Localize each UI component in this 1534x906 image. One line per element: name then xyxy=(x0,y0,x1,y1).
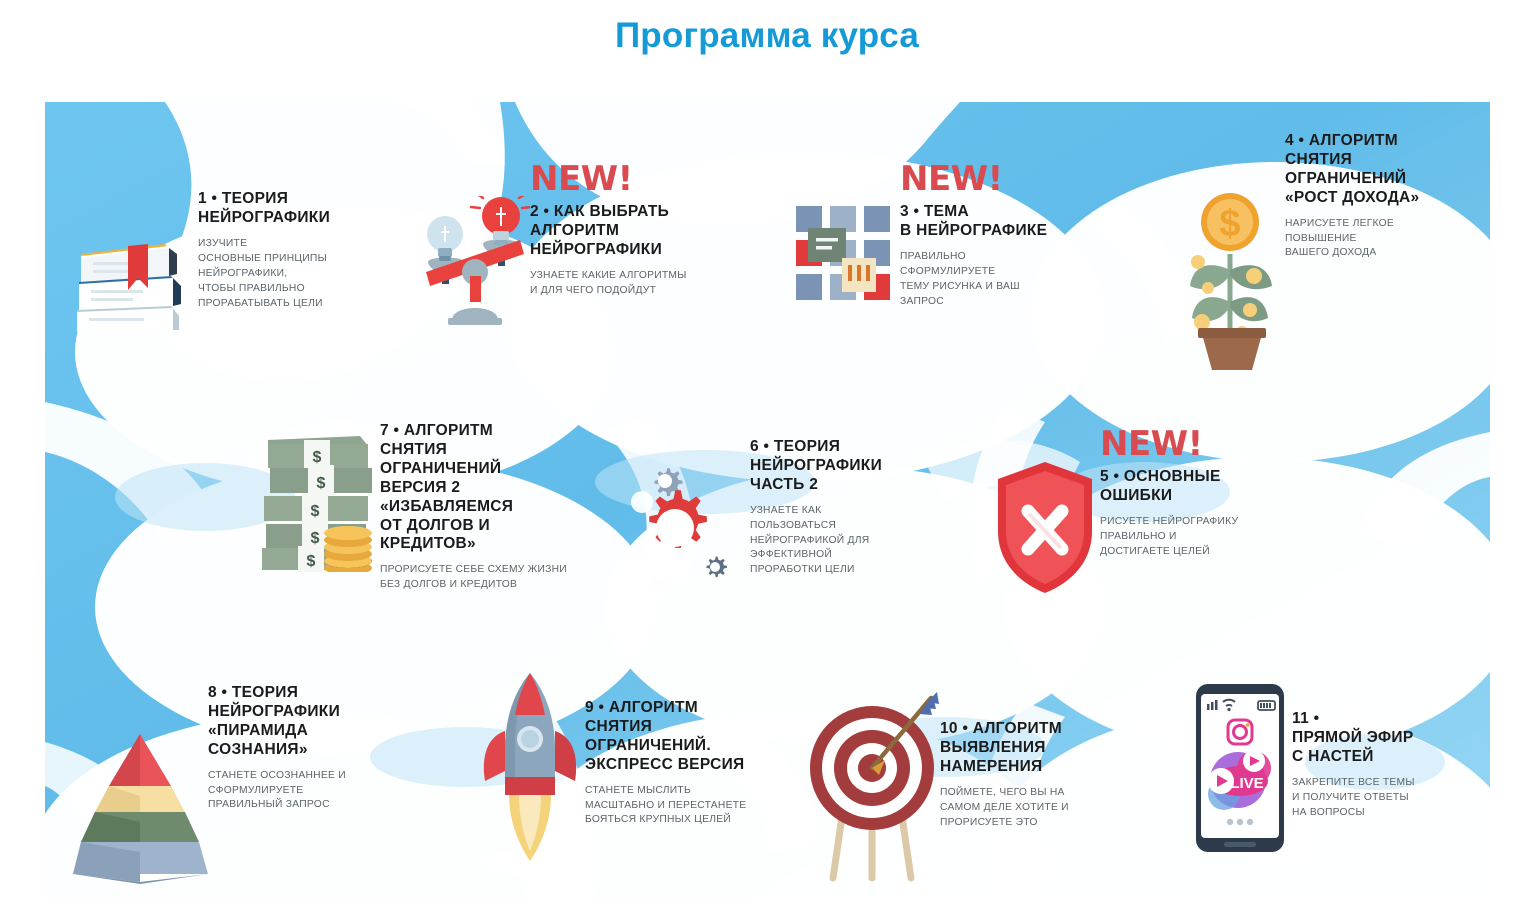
course-item-8[interactable]: 8 • ТЕОРИЯ НЕЙРОГРАФИКИ «ПИРАМИДА СОЗНАН… xyxy=(73,684,393,889)
course-item-desc: ПРОРИСУЕТЕ СЕБЕ СХЕМУ ЖИЗНИ БЕЗ ДОЛГОВ И… xyxy=(380,563,567,593)
pyramid-icon xyxy=(73,724,208,889)
course-item-desc: ПРАВИЛЬНО СФОРМУЛИРУЕТЕ ТЕМУ РИСУНКА И В… xyxy=(900,250,1047,310)
course-item-10[interactable]: 10 • АЛГОРИТМ ВЫЯВЛЕНИЯ НАМЕРЕНИЯ ПОЙМЕТ… xyxy=(805,682,1105,887)
course-item-desc: ЗАКРЕПИТЕ ВСЕ ТЕМЫ И ПОЛУЧИТЕ ОТВЕТЫ НА … xyxy=(1292,776,1415,821)
course-item-title: 9 • АЛГОРИТМ СНЯТИЯ ОГРАНИЧЕНИЙ. ЭКСПРЕС… xyxy=(585,699,746,775)
svg-text:$: $ xyxy=(1219,203,1240,245)
course-program-board: 1 • ТЕОРИЯ НЕЙРОГРАФИКИ ИЗУЧИТЕ ОСНОВНЫЕ… xyxy=(45,102,1490,900)
course-item-title: 1 • ТЕОРИЯ НЕЙРОГРАФИКИ xyxy=(198,190,330,228)
course-item-title: 8 • ТЕОРИЯ НЕЙРОГРАФИКИ «ПИРАМИДА СОЗНАН… xyxy=(208,684,346,760)
course-item-title: 5 • ОСНОВНЫЕ ОШИБКИ xyxy=(1100,468,1238,506)
course-item-desc: УЗНАЕТЕ КАКИЕ АЛГОРИТМЫ И ДЛЯ ЧЕГО ПОДОЙ… xyxy=(530,269,687,299)
money-stacks-icon: $ $ $ $ xyxy=(260,432,380,577)
gears-icon xyxy=(630,446,750,611)
course-item-desc: СТАНЕТЕ ОСОЗНАННЕЕ И СФОРМУЛИРУЕТЕ ПРАВИ… xyxy=(208,769,346,814)
course-item-2[interactable]: NEW! 2 • КАК ВЫБРАТЬ АЛГОРИТМ НЕЙРОГРАФИ… xyxy=(420,162,740,331)
course-item-6[interactable]: 6 • ТЕОРИЯ НЕЙРОГРАФИКИ ЧАСТЬ 2 УЗНАЕТЕ … xyxy=(630,432,930,611)
course-item-7-text: 7 • АЛГОРИТМ СНЯТИЯ ОГРАНИЧЕНИЙ ВЕРСИЯ 2… xyxy=(380,422,567,593)
money-plant-icon: $ xyxy=(1180,192,1285,377)
course-item-2-text: NEW! 2 • КАК ВЫБРАТЬ АЛГОРИТМ НЕЙРОГРАФИ… xyxy=(530,162,687,299)
course-item-desc: ПОЙМЕТЕ, ЧЕГО ВЫ НА САМОМ ДЕЛЕ ХОТИТЕ И … xyxy=(940,786,1069,831)
new-badge: NEW! xyxy=(530,162,687,196)
course-item-10-text: 10 • АЛГОРИТМ ВЫЯВЛЕНИЯ НАМЕРЕНИЯ ПОЙМЕТ… xyxy=(940,720,1069,830)
squares-grid-icon xyxy=(790,200,900,310)
course-item-5[interactable]: NEW! 5 • ОСНОВНЫЕ ОШИБКИ РИСУЕТЕ НЕЙРОГР… xyxy=(990,427,1290,604)
course-item-title: 6 • ТЕОРИЯ НЕЙРОГРАФИКИ ЧАСТЬ 2 xyxy=(750,438,882,495)
course-item-desc: НАРИСУЕТЕ ЛЕГКОЕ ПОВЫШЕНИЕ ВАШЕГО ДОХОДА xyxy=(1285,217,1419,262)
course-item-desc: УЗНАЕТЕ КАК ПОЛЬЗОВАТЬСЯ НЕЙРОГРАФИКОЙ Д… xyxy=(750,504,882,579)
course-item-desc: СТАНЕТЕ МЫСЛИТЬ МАСШТАБНО И ПЕРЕСТАНЕТЕ … xyxy=(585,784,746,829)
new-badge: NEW! xyxy=(900,162,1047,196)
course-item-9[interactable]: 9 • АЛГОРИТМ СНЯТИЯ ОГРАНИЧЕНИЙ. ЭКСПРЕС… xyxy=(475,647,775,880)
rocket-icon xyxy=(475,665,585,880)
svg-text:LIVE: LIVE xyxy=(1230,775,1263,792)
svg-text:$: $ xyxy=(317,475,326,492)
shield-cross-icon xyxy=(990,459,1100,604)
svg-text:$: $ xyxy=(311,530,320,547)
new-badge: NEW! xyxy=(1100,427,1238,461)
svg-text:$: $ xyxy=(307,553,316,570)
course-item-desc: ИЗУЧИТЕ ОСНОВНЫЕ ПРИНЦИПЫ НЕЙРОГРАФИКИ, … xyxy=(198,237,330,312)
page-title: Программа курса xyxy=(0,16,1534,56)
smartphone-live-icon: LIVE xyxy=(1190,682,1292,862)
course-item-title: 11 • ПРЯМОЙ ЭФИР С НАСТЕЙ xyxy=(1292,710,1415,767)
course-item-8-text: 8 • ТЕОРИЯ НЕЙРОГРАФИКИ «ПИРАМИДА СОЗНАН… xyxy=(208,684,346,813)
course-item-6-text: 6 • ТЕОРИЯ НЕЙРОГРАФИКИ ЧАСТЬ 2 УЗНАЕТЕ … xyxy=(750,438,882,578)
course-item-title: 7 • АЛГОРИТМ СНЯТИЯ ОГРАНИЧЕНИЙ ВЕРСИЯ 2… xyxy=(380,422,567,554)
course-item-11-text: 11 • ПРЯМОЙ ЭФИР С НАСТЕЙ ЗАКРЕПИТЕ ВСЕ … xyxy=(1292,710,1415,820)
course-item-3[interactable]: NEW! 3 • ТЕМА В НЕЙРОГРАФИКЕ ПРАВИЛЬНО С… xyxy=(790,162,1110,310)
course-item-title: 4 • АЛГОРИТМ СНЯТИЯ ОГРАНИЧЕНИЙ «РОСТ ДО… xyxy=(1285,132,1419,208)
course-item-1-text: 1 • ТЕОРИЯ НЕЙРОГРАФИКИ ИЗУЧИТЕ ОСНОВНЫЕ… xyxy=(198,190,330,311)
course-item-4-text: 4 • АЛГОРИТМ СНЯТИЯ ОГРАНИЧЕНИЙ «РОСТ ДО… xyxy=(1285,132,1419,261)
course-item-7[interactable]: $ $ $ $ xyxy=(260,422,590,593)
course-item-1[interactable]: 1 • ТЕОРИЯ НЕЙРОГРАФИКИ ИЗУЧИТЕ ОСНОВНЫЕ… xyxy=(73,190,403,337)
balance-scale-bulbs-icon xyxy=(420,196,530,331)
books-icon xyxy=(73,232,198,337)
course-item-3-text: NEW! 3 • ТЕМА В НЕЙРОГРАФИКЕ ПРАВИЛЬНО С… xyxy=(900,162,1047,310)
course-item-title: 3 • ТЕМА В НЕЙРОГРАФИКЕ xyxy=(900,203,1047,241)
course-item-5-text: NEW! 5 • ОСНОВНЫЕ ОШИБКИ РИСУЕТЕ НЕЙРОГР… xyxy=(1100,427,1238,560)
course-item-title: 2 • КАК ВЫБРАТЬ АЛГОРИТМ НЕЙРОГРАФИКИ xyxy=(530,203,687,260)
course-item-desc: РИСУЕТЕ НЕЙРОГРАФИКУ ПРАВИЛЬНО И ДОСТИГА… xyxy=(1100,515,1238,560)
target-arrow-icon xyxy=(805,692,940,887)
course-item-9-text: 9 • АЛГОРИТМ СНЯТИЯ ОГРАНИЧЕНИЙ. ЭКСПРЕС… xyxy=(585,699,746,828)
svg-text:$: $ xyxy=(313,449,322,466)
svg-text:$: $ xyxy=(311,503,320,520)
course-item-11[interactable]: LIVE 11 • ПРЯМОЙ ЭФИР С НАСТЕЙ ЗАКРЕПИТЕ… xyxy=(1190,672,1490,862)
course-item-title: 10 • АЛГОРИТМ ВЫЯВЛЕНИЯ НАМЕРЕНИЯ xyxy=(940,720,1069,777)
course-item-4[interactable]: $ 4 • АЛГОРИТМ СНЯТИЯ ОГР xyxy=(1180,132,1480,377)
